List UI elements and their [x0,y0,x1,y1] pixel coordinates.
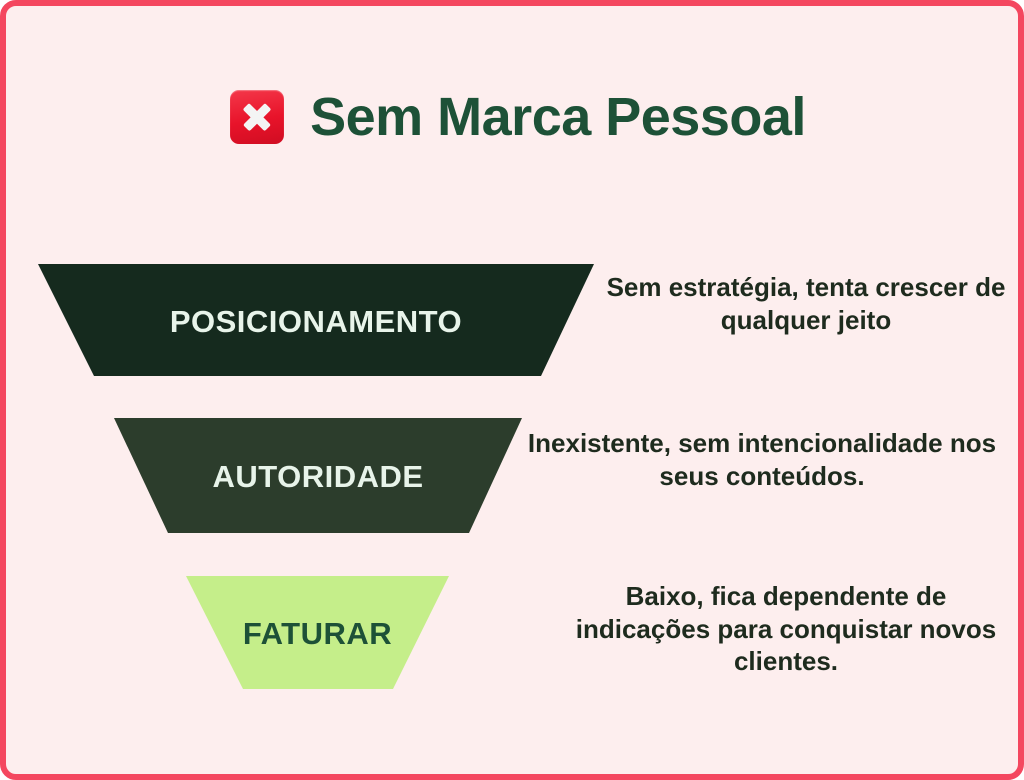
funnel-stage-1-label: POSICIONAMENTO [38,306,594,337]
funnel-stage-3-label: FATURAR [186,618,449,649]
funnel-stage-2-label: AUTORIDADE [114,461,522,492]
funnel-stage-3-description: Baixo, fica dependente de indicações par… [562,580,1010,678]
header: Sem Marca Pessoal [6,90,1024,144]
funnel-stage-2-description: Inexistente, sem intencionalidade nos se… [512,427,1012,492]
funnel-stage-1-description: Sem estratégia, tenta crescer de qualque… [606,271,1006,336]
slide-card: Sem Marca Pessoal POSICIONAMENTO AUTORID… [0,0,1024,780]
cross-mark-icon [230,90,284,144]
page-title: Sem Marca Pessoal [310,90,806,144]
